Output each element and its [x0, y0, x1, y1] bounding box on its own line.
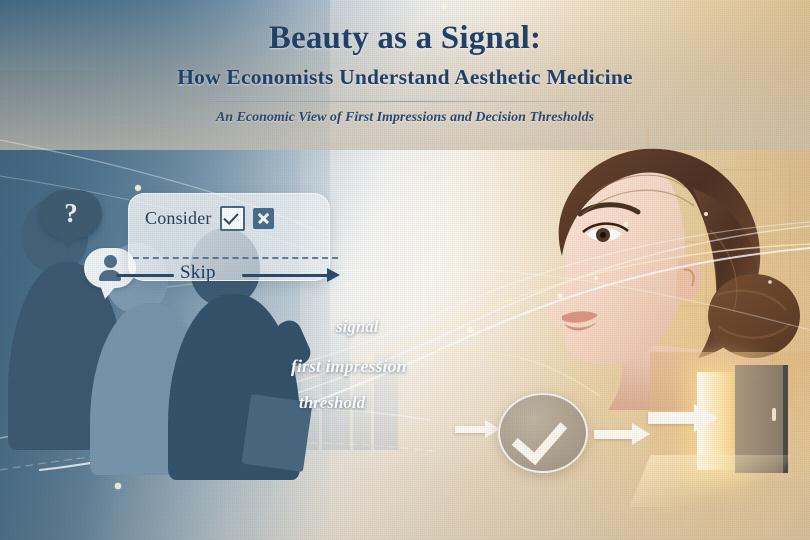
texture-overlay: [0, 0, 810, 540]
poster-canvas: ? Consider Skip signal first impression …: [0, 0, 810, 540]
